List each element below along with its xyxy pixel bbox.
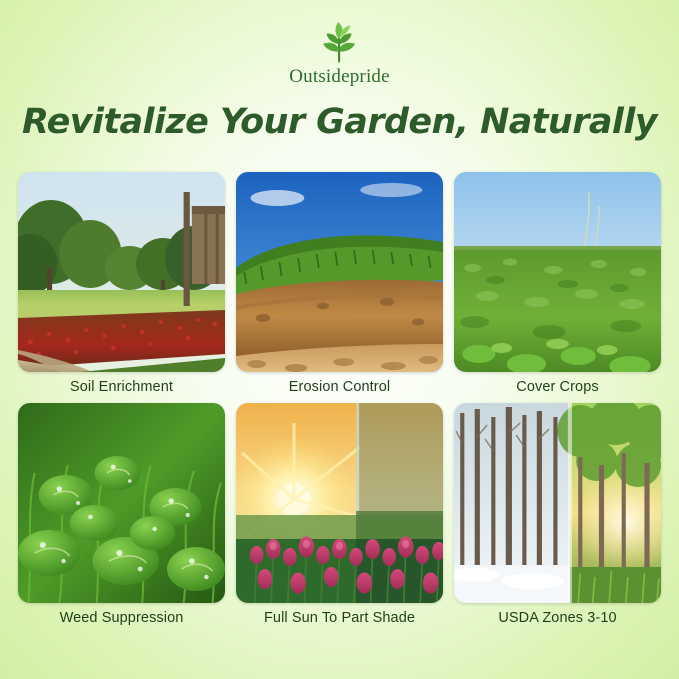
grid-cell-full-sun-to-part-shade: Full Sun To Part Shade [236, 403, 443, 626]
thumbnail-weed-suppression [18, 403, 225, 603]
grid-cell-erosion-control: Erosion Control [236, 172, 443, 395]
caption-weed-suppression: Weed Suppression [60, 610, 184, 626]
page-title: Revitalize Your Garden, Naturally [0, 102, 679, 142]
caption-soil-enrichment: Soil Enrichment [70, 379, 173, 395]
grid-cell-cover-crops: Cover Crops [454, 172, 661, 395]
thumbnail-erosion-control [236, 172, 443, 372]
feature-grid: Soil Enrichment [18, 172, 661, 626]
caption-full-sun-to-part-shade: Full Sun To Part Shade [264, 610, 415, 626]
thumbnail-cover-crops [454, 172, 661, 372]
thumbnail-full-sun-to-part-shade [236, 403, 443, 603]
brand-lockup: Outsidepride [0, 18, 679, 88]
thumbnail-soil-enrichment [18, 172, 225, 372]
grid-cell-usda-zones: USDA Zones 3-10 [454, 403, 661, 626]
grid-cell-soil-enrichment: Soil Enrichment [18, 172, 225, 395]
product-infographic: Outsidepride Revitalize Your Garden, Nat… [0, 0, 679, 679]
caption-usda-zones: USDA Zones 3-10 [498, 610, 616, 626]
caption-erosion-control: Erosion Control [289, 379, 390, 395]
grid-cell-weed-suppression: Weed Suppression [18, 403, 225, 626]
caption-cover-crops: Cover Crops [516, 379, 599, 395]
brand-name: Outsidepride [0, 66, 679, 88]
leaf-sprout-logo-icon [314, 18, 364, 64]
thumbnail-usda-zones [454, 403, 661, 603]
